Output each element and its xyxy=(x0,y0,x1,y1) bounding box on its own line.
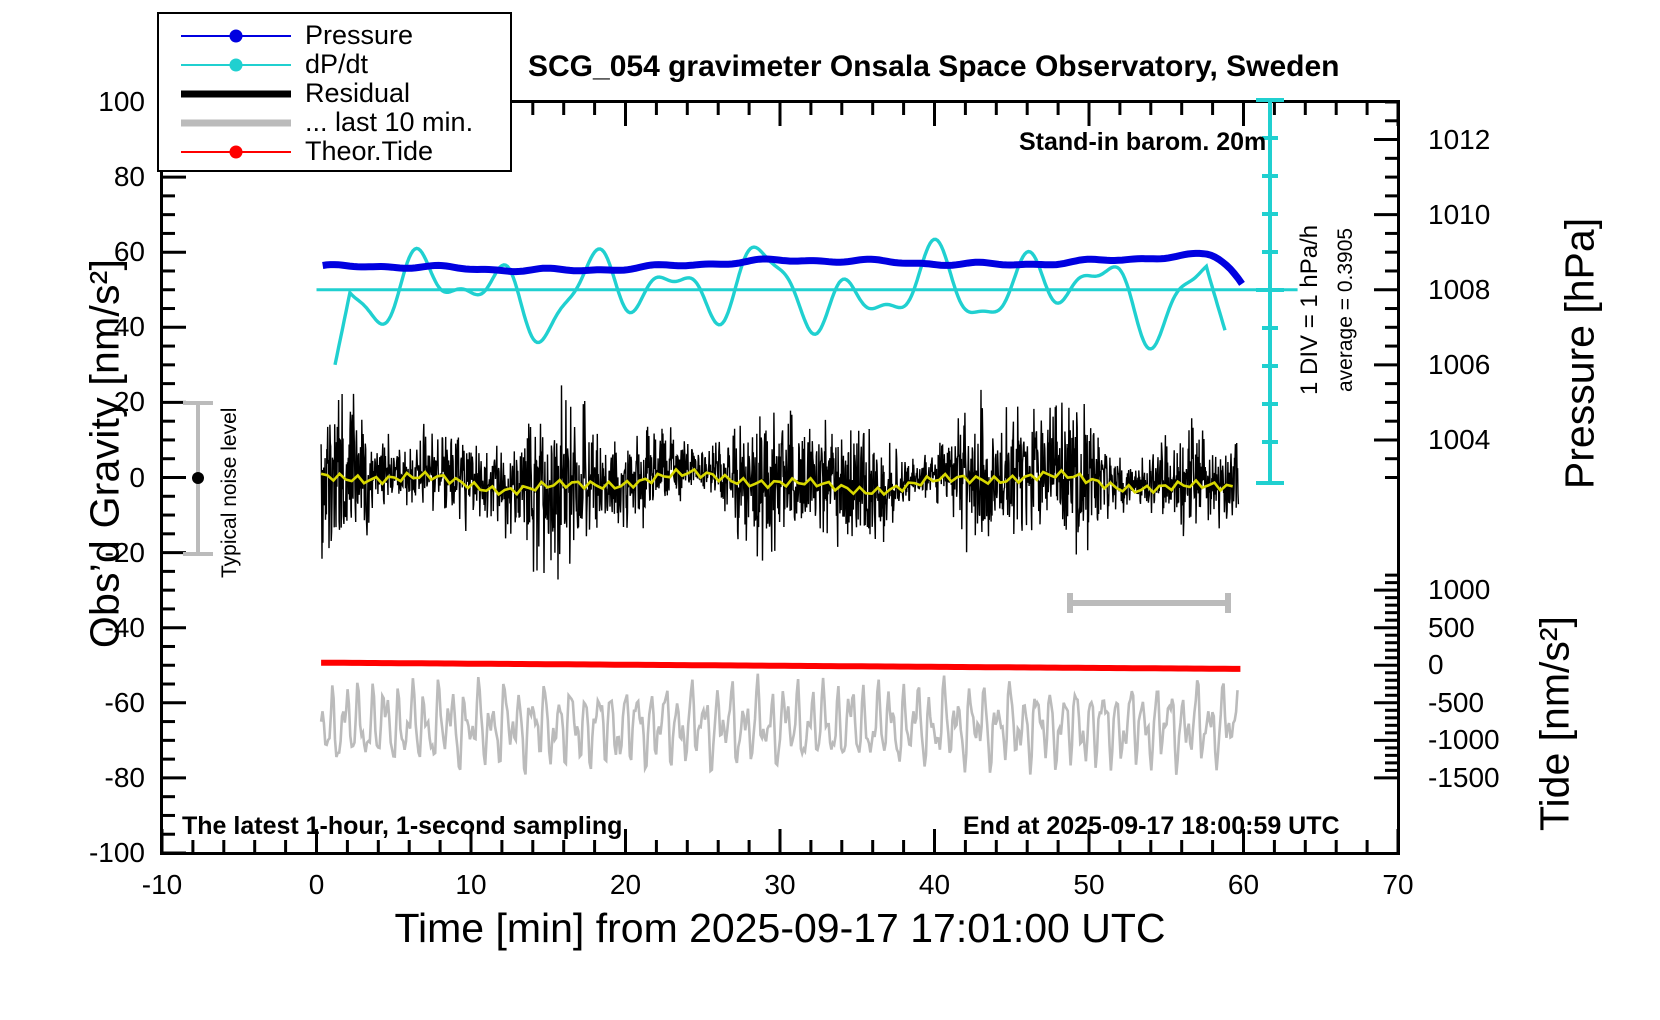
x-tick-label: 40 xyxy=(919,869,950,901)
legend-label: Residual xyxy=(291,78,410,109)
y-tick-label: 80 xyxy=(40,161,145,193)
y-tick-label: 40 xyxy=(40,311,145,343)
tide-tick-label: -1500 xyxy=(1428,762,1500,794)
y-tick-label: 60 xyxy=(40,236,145,268)
pressure-tick-label: 1010 xyxy=(1428,199,1490,231)
x-tick-label: 60 xyxy=(1228,869,1259,901)
y-tick-label: -80 xyxy=(40,762,145,794)
pressure-tick-label: 1004 xyxy=(1428,424,1490,456)
legend-item-4[interactable]: Theor.Tide xyxy=(159,137,510,166)
x-tick-label: 70 xyxy=(1382,869,1413,901)
annotation-average: average = 0.3905 xyxy=(1334,228,1358,392)
y-tick-label: 20 xyxy=(40,386,145,418)
legend-item-1[interactable]: dP/dt xyxy=(159,50,510,79)
dpdt-scale-bar xyxy=(1256,100,1284,483)
legend-label: Pressure xyxy=(291,20,413,51)
x-tick-label: 20 xyxy=(610,869,641,901)
legend-label: ... last 10 min. xyxy=(291,107,473,138)
chart-root: Obs’d Gravity [nm/s²] Pressure [hPa] Tid… xyxy=(0,0,1660,1020)
annotation-div-scale: 1 DIV = 1 hPa/h xyxy=(1296,225,1324,395)
tide-tick-label: -1000 xyxy=(1428,724,1500,756)
pressure-tick-label: 1012 xyxy=(1428,124,1490,156)
annotation-bottom-left: The latest 1-hour, 1-second sampling xyxy=(182,812,622,841)
x-tick-label: 30 xyxy=(764,869,795,901)
legend-swatch-icon xyxy=(181,55,291,75)
legend-swatch-icon xyxy=(181,84,291,104)
legend-item-3[interactable]: ... last 10 min. xyxy=(159,108,510,137)
x-tick-label: 0 xyxy=(309,869,325,901)
y-tick-label: -100 xyxy=(40,837,145,869)
legend[interactable]: PressuredP/dtResidual... last 10 min.The… xyxy=(157,12,512,172)
tide-tick-label: -500 xyxy=(1428,687,1484,719)
legend-item-0[interactable]: Pressure xyxy=(159,21,510,50)
tide-tick-label: 500 xyxy=(1428,612,1475,644)
y-axis-right-ticks xyxy=(1374,102,1398,778)
y-tick-label: 100 xyxy=(40,86,145,118)
legend-swatch-icon xyxy=(181,142,291,162)
legend-item-2[interactable]: Residual xyxy=(159,79,510,108)
y-axis-left-ticks xyxy=(162,102,186,853)
x-tick-label: 10 xyxy=(455,869,486,901)
legend-swatch-icon xyxy=(181,26,291,46)
y-tick-label: -60 xyxy=(40,687,145,719)
series-last-10-min xyxy=(321,674,1237,775)
pressure-tick-label: 1008 xyxy=(1428,274,1490,306)
typical-noise-center-dot xyxy=(192,472,204,484)
series-pressure xyxy=(323,253,1242,284)
y-tick-label: -40 xyxy=(40,612,145,644)
y-tick-label: 0 xyxy=(40,462,145,494)
tide-tick-label: 1000 xyxy=(1428,574,1490,606)
pressure-tick-label: 1006 xyxy=(1428,349,1490,381)
tide-tick-label: 0 xyxy=(1428,649,1444,681)
legend-swatch-icon xyxy=(181,113,291,133)
chart-title: SCG_054 gravimeter Onsala Space Observat… xyxy=(528,50,1340,84)
x-tick-label: -10 xyxy=(142,869,182,901)
y-tick-label: -20 xyxy=(40,537,145,569)
last-10-min-span-bar xyxy=(1070,593,1228,613)
legend-label: Theor.Tide xyxy=(291,136,433,167)
annotation-bottom-right: End at 2025-09-17 18:00:59 UTC xyxy=(963,812,1340,841)
annotation-standin-barometer: Stand-in barom. 20m xyxy=(1019,128,1266,157)
x-tick-label: 50 xyxy=(1073,869,1104,901)
annotation-typical-noise-level: Typical noise level xyxy=(218,408,242,578)
legend-label: dP/dt xyxy=(291,49,368,80)
series-theor-tide xyxy=(321,663,1240,669)
